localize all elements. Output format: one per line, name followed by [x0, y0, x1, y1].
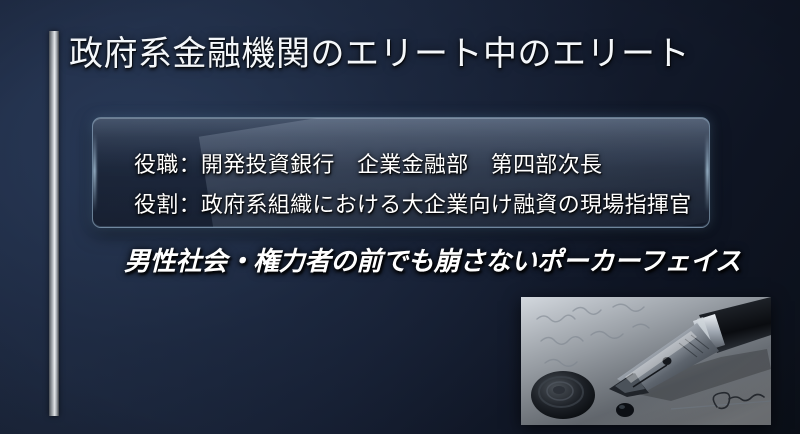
info-line-position: 役職：開発投資銀行 企業金融部 第四部次長	[134, 145, 709, 185]
info-panel-lines: 役職：開発投資銀行 企業金融部 第四部次長 役割：政府系組織における大企業向け融…	[93, 118, 709, 225]
slide-title: 政府系金融機関のエリート中のエリート	[69, 32, 690, 78]
fountain-pen-photo	[521, 297, 771, 425]
presentation-slide: 政府系金融機関のエリート中のエリート 役職：開発投資銀行 企業金融部 第四部次長…	[0, 0, 800, 434]
fountain-pen-illustration	[521, 297, 771, 425]
info-panel: 役職：開発投資銀行 企業金融部 第四部次長 役割：政府系組織における大企業向け融…	[92, 117, 710, 228]
left-accent-bar	[49, 31, 59, 416]
info-line-role: 役割：政府系組織における大企業向け融資の現場指揮官	[134, 185, 709, 225]
emphasis-caption: 男性社会・権力者の前でも崩さないポーカーフェイス	[124, 241, 741, 278]
